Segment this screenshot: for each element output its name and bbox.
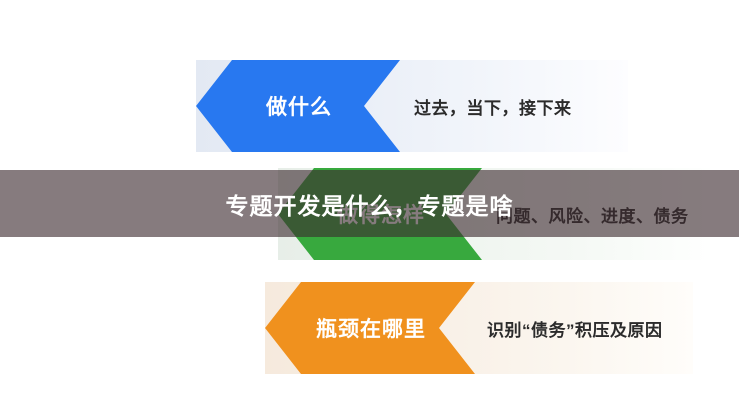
step-description-bottleneck: 识别“债务”积压及原因 <box>487 282 663 374</box>
process-step-bottleneck: 瓶颈在哪里 识别“债务”积压及原因 <box>265 282 693 374</box>
step-label-bottleneck: 瓶颈在哪里 <box>295 282 447 374</box>
diagram-canvas: 做什么 过去，当下，接下来 做得怎样 问题、风险、进度、债务 瓶颈在哪里 识别“… <box>0 0 739 400</box>
step-label-what: 做什么 <box>224 60 374 152</box>
step-description-what: 过去，当下，接下来 <box>414 60 572 152</box>
page-title: 专题开发是什么，专题是啥 <box>226 187 514 221</box>
title-overlay-banner: 专题开发是什么，专题是啥 <box>0 170 739 237</box>
process-step-what: 做什么 过去，当下，接下来 <box>196 60 628 152</box>
